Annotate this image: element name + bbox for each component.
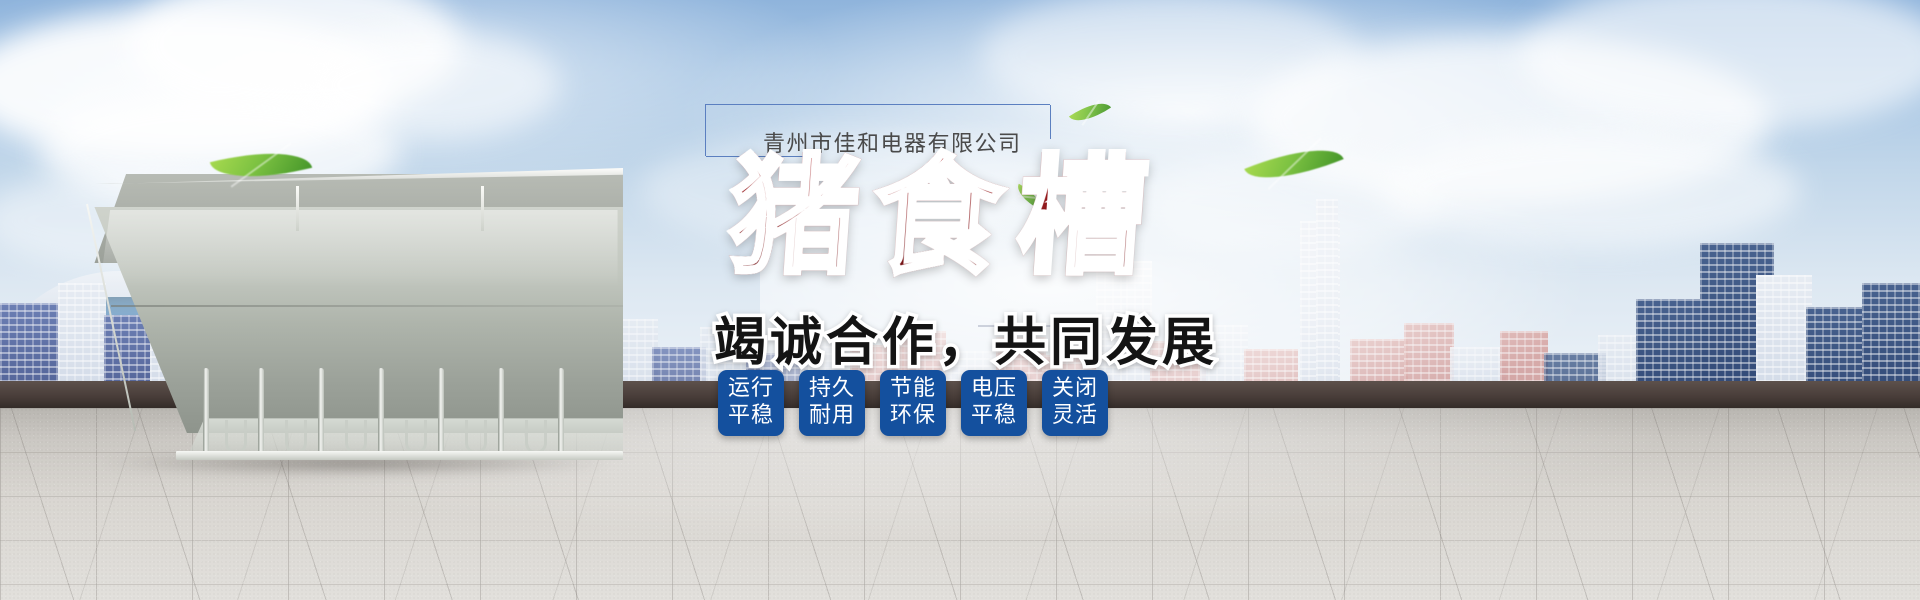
banner-text-block: 青州市佳和电器有限公司 猪食槽 竭诚合作，共同发展 运行 平稳 持久 耐用 节能…	[700, 104, 1520, 524]
feature-badge[interactable]: 电压 平稳	[961, 370, 1027, 436]
feature-badge-line1: 电压	[971, 376, 1017, 403]
feature-badge-line2: 耐用	[809, 403, 855, 430]
cloud	[300, 30, 560, 140]
feature-badge-line2: 平稳	[971, 403, 1017, 430]
banner-subtitle: 竭诚合作，共同发展	[714, 300, 1218, 375]
feature-badge-line1: 关闭	[1052, 376, 1098, 403]
feature-badge-line1: 运行	[728, 376, 774, 403]
feature-badge[interactable]: 持久 耐用	[799, 370, 865, 436]
promo-banner: 青州市佳和电器有限公司 猪食槽 竭诚合作，共同发展 运行 平稳 持久 耐用 节能…	[0, 0, 1920, 600]
feature-badge-line2: 灵活	[1052, 403, 1098, 430]
product-image-feeder-trough	[78, 168, 623, 466]
feature-badge[interactable]: 节能 环保	[880, 370, 946, 436]
feature-badge-line2: 平稳	[728, 403, 774, 430]
feature-badge-line1: 持久	[809, 376, 855, 403]
page-title: 猪食槽	[725, 152, 1166, 283]
feature-badge-line2: 环保	[890, 403, 936, 430]
feature-badge[interactable]: 关闭 灵活	[1042, 370, 1108, 436]
feature-badge-list: 运行 平稳 持久 耐用 节能 环保 电压 平稳 关闭 灵活	[718, 370, 1108, 436]
feature-badge[interactable]: 运行 平稳	[718, 370, 784, 436]
feature-badge-line1: 节能	[890, 376, 936, 403]
